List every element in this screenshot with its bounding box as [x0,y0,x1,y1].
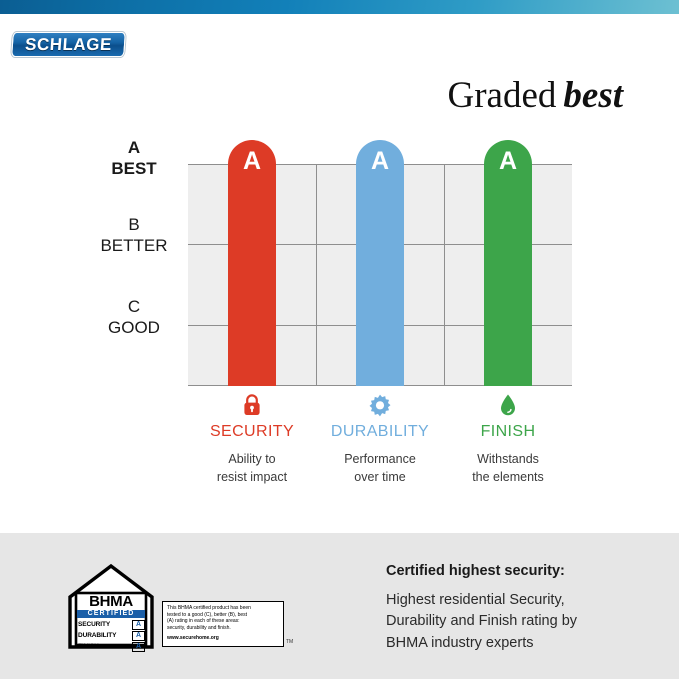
logo-wordmark: SCHLAGE [11,32,126,57]
category-desc-line1-durability: Performance [344,452,416,466]
infographic-root: SCHLAGE Gradedbest A BEST B BETTER C GOO… [0,0,679,679]
chart-divider-2 [444,164,445,386]
y-axis-descriptor-best: BEST [86,159,182,180]
grade-chart: A A A [188,164,572,386]
category-description-finish: Withstands the elements [444,451,572,487]
bar-grade-security: A [228,147,276,176]
bhma-certified-banner: CERTIFIED [77,610,145,618]
category-name-finish: FINISH [444,423,572,441]
bhma-trademark-mark: TM [286,639,293,645]
category-name-security: SECURITY [188,423,316,441]
padlock-icon [188,392,316,418]
bar-grade-finish: A [484,147,532,176]
category-description-security: Ability to resist impact [188,451,316,487]
bar-finish[interactable]: A [484,140,532,386]
bhma-row-label-durability: DURABILITY [77,631,132,641]
category-description-durability: Performance over time [316,451,444,487]
bhma-note-line3: (A) rating in each of these areas: [167,618,279,625]
page-title-regular: Graded [448,75,557,116]
page-title: Gradedbest [448,74,624,117]
category-desc-line1-finish: Withstands [477,452,539,466]
category-name-durability: DURABILITY [316,423,444,441]
page-title-emphasis: best [563,75,623,116]
category-durability: DURABILITY Performance over time [316,392,444,487]
bhma-badge-inner: BHMA CERTIFIED SECURITY A DURABILITY A F… [77,594,145,644]
y-axis-label-good: C GOOD [86,297,182,338]
category-desc-line2-finish: the elements [472,470,544,484]
footer-band: BHMA CERTIFIED SECURITY A DURABILITY A F… [0,533,679,679]
y-axis-descriptor-better: BETTER [86,236,182,257]
bhma-certification-badge: BHMA CERTIFIED SECURITY A DURABILITY A F… [68,563,286,649]
y-axis-grade-b: B [86,215,182,236]
footer-body-line2: Durability and Finish rating by [386,613,577,629]
y-axis-descriptor-good: GOOD [86,318,182,339]
bar-grade-durability: A [356,147,404,176]
bhma-row-value-finish: A [132,642,145,652]
water-droplet-icon [444,392,572,418]
bhma-row-durability: DURABILITY A [77,631,145,641]
bhma-note-url[interactable]: www.securehome.org [167,635,279,642]
category-desc-line1-security: Ability to [228,452,275,466]
y-axis-grade-c: C [86,297,182,318]
y-axis-grade-a: A [86,138,182,159]
chart-y-axis: A BEST B BETTER C GOOD [86,130,182,390]
footer-body: Highest residential Security, Durability… [386,590,646,654]
footer-text-block: Certified highest security: Highest resi… [386,563,646,654]
category-desc-line2-durability: over time [354,470,405,484]
bhma-row-security: SECURITY A [77,620,145,630]
footer-body-line3: BHMA industry experts [386,635,533,651]
footer-title: Certified highest security: [386,563,646,579]
bhma-note-line4: security, durability and finish. [167,625,279,632]
category-desc-line2-security: resist impact [217,470,287,484]
category-security: SECURITY Ability to resist impact [188,392,316,487]
bhma-row-label-finish: FINISH [77,642,132,652]
bhma-row-value-security: A [132,620,145,630]
bhma-note-line1: This BHMA certified product has been [167,605,279,612]
bhma-row-label-security: SECURITY [77,620,132,630]
chart-categories: SECURITY Ability to resist impact DURABI… [188,392,572,492]
bhma-note-line2: tested to a good (C), better (B), best [167,612,279,619]
bhma-wordmark: BHMA [77,594,145,609]
schlage-logo[interactable]: SCHLAGE [12,32,125,57]
bhma-note-box: This BHMA certified product has been tes… [162,601,284,647]
bhma-rating-rows: SECURITY A DURABILITY A FINISH A [77,620,145,653]
bar-durability[interactable]: A [356,140,404,386]
gear-icon [316,392,444,418]
top-gradient-bar [0,0,679,14]
bhma-row-finish: FINISH A [77,642,145,652]
y-axis-label-best: A BEST [86,138,182,179]
category-finish: FINISH Withstands the elements [444,392,572,487]
y-axis-label-better: B BETTER [86,215,182,256]
bar-security[interactable]: A [228,140,276,386]
bhma-row-value-durability: A [132,631,145,641]
chart-divider-1 [316,164,317,386]
footer-body-line1: Highest residential Security, [386,592,565,608]
